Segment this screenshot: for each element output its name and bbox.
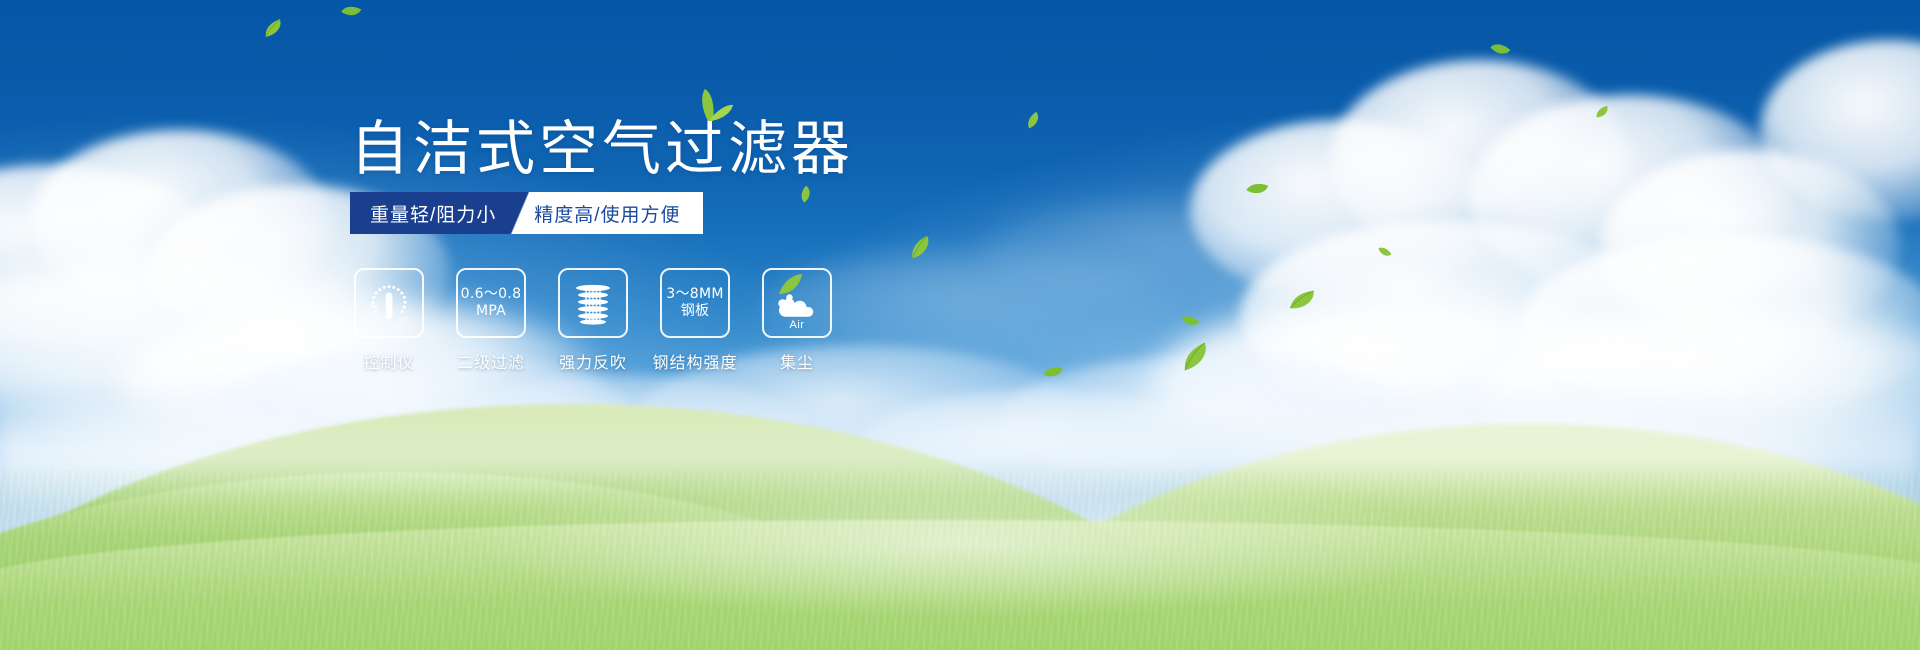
page-title: 自洁式空气过滤器 xyxy=(350,118,854,180)
feature-list: NO OFF 控制仪 0.6～0.8 MPA 二级过滤 xyxy=(350,268,836,373)
feature-item: Air 集尘 xyxy=(758,268,836,373)
feature-label: 集尘 xyxy=(780,349,814,373)
title-leaf-icon xyxy=(682,88,734,127)
steel-plate-unit-text: 钢板 xyxy=(681,303,710,320)
feature-label: 二级过滤 xyxy=(457,349,525,373)
feature-item: 强力反吹 xyxy=(554,268,632,373)
feature-item: 3～8MM 钢板 钢结构强度 xyxy=(656,268,734,373)
feature-label: 强力反吹 xyxy=(559,349,627,373)
pressure-text-icon: 0.6～0.8 xyxy=(461,286,522,303)
svg-text:NO: NO xyxy=(369,304,378,310)
tagline-secondary: 精度高/使用方便 xyxy=(522,192,702,234)
air-leaf-icon xyxy=(777,274,803,301)
feature-icon-box: 3～8MM 钢板 xyxy=(660,268,730,338)
feature-label: 钢结构强度 xyxy=(653,349,738,373)
pressure-unit-text: MPA xyxy=(476,303,506,320)
air-label: Air xyxy=(764,319,830,331)
banner-content: 自洁式空气过滤器 重量轻/阻力小 精度高/使用方便 xyxy=(0,0,1920,650)
gauge-dial-icon: NO OFF xyxy=(361,275,417,331)
filter-cartridge-icon xyxy=(565,275,621,331)
feature-icon-box xyxy=(558,268,628,338)
feature-icon-box: NO OFF xyxy=(354,268,424,338)
svg-text:OFF: OFF xyxy=(398,318,410,324)
promo-banner: 自洁式空气过滤器 重量轻/阻力小 精度高/使用方便 xyxy=(0,0,1920,650)
feature-label: 控制仪 xyxy=(363,349,414,373)
feature-icon-box: Air xyxy=(762,268,832,338)
feature-item: NO OFF 控制仪 xyxy=(350,268,428,373)
tagline-primary: 重量轻/阻力小 xyxy=(350,192,520,234)
steel-plate-text-icon: 3～8MM xyxy=(666,286,723,303)
feature-item: 0.6～0.8 MPA 二级过滤 xyxy=(452,268,530,373)
feature-icon-box: 0.6～0.8 MPA xyxy=(456,268,526,338)
tagline-group: 重量轻/阻力小 精度高/使用方便 xyxy=(350,192,703,234)
